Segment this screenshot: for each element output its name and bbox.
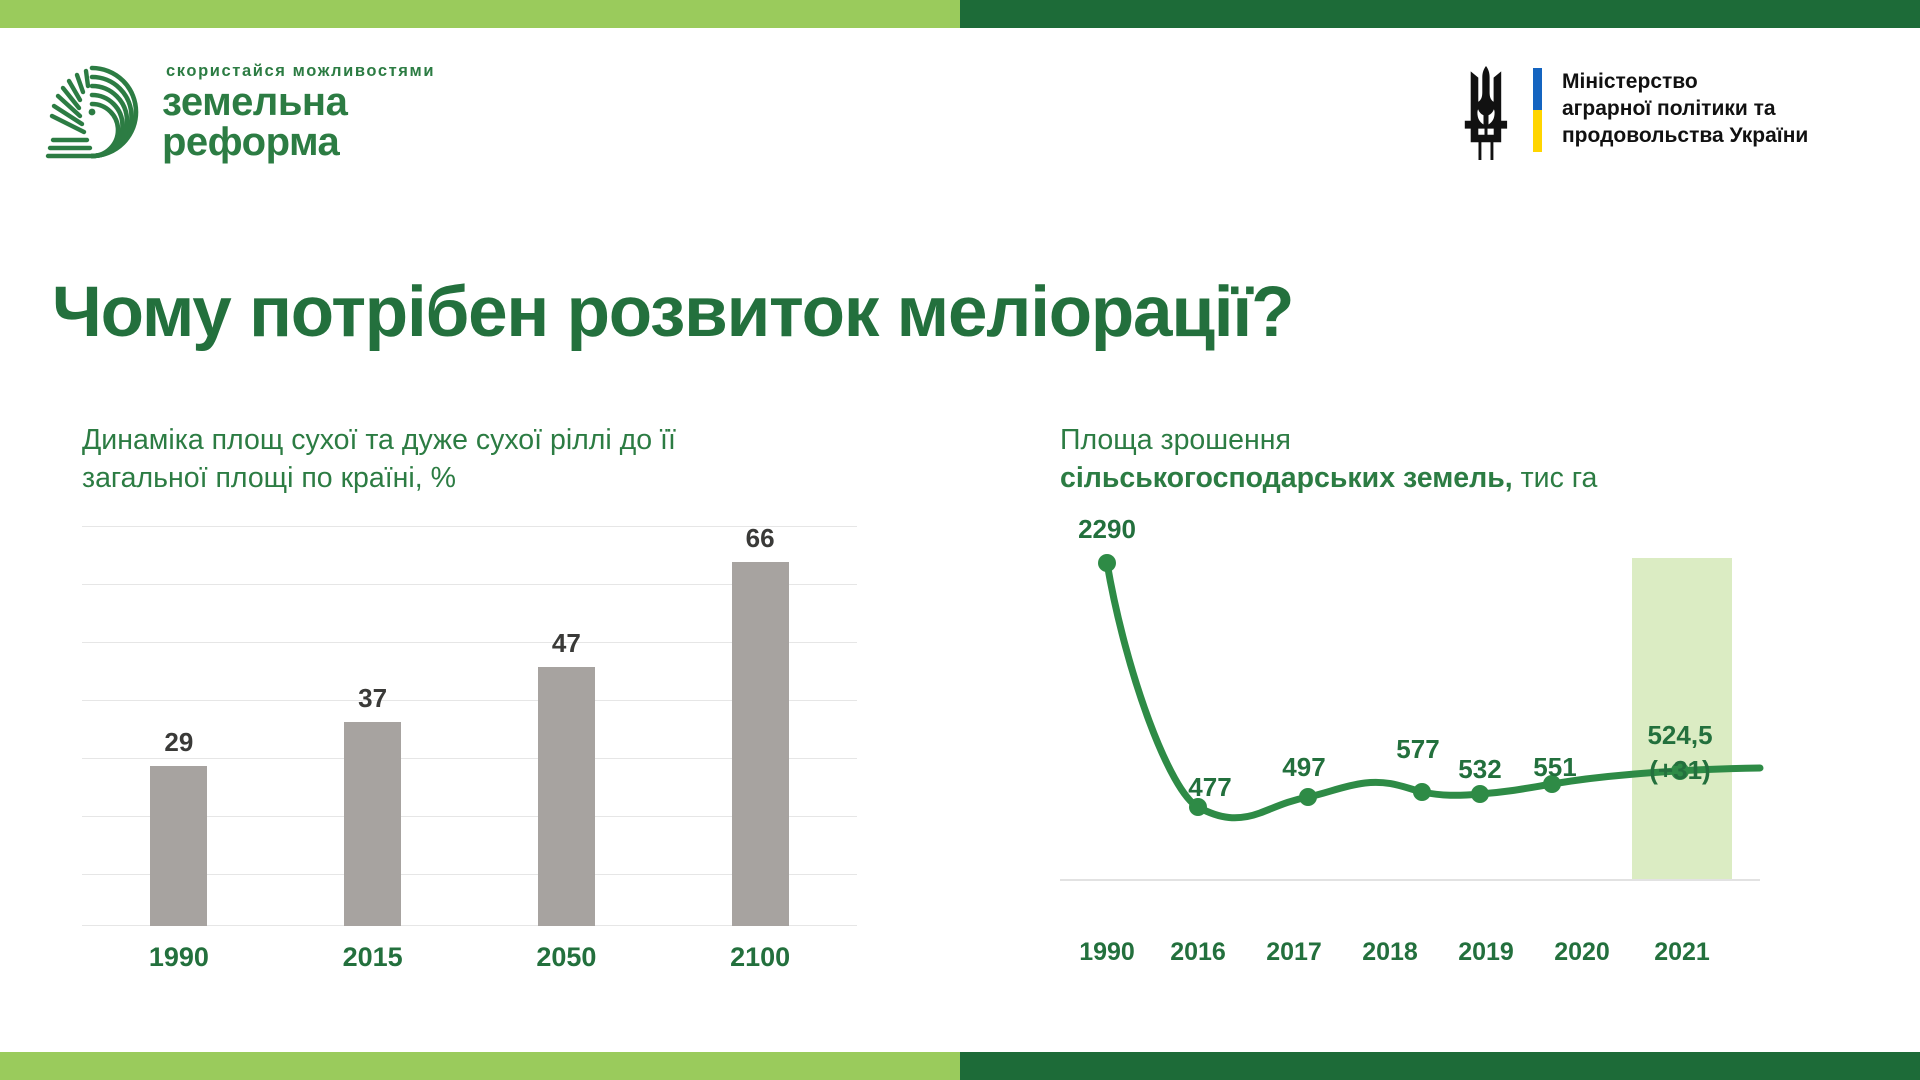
bar-value-label: 66 <box>746 523 775 554</box>
line-x-tick-2017: 2017 <box>1266 938 1322 967</box>
bar-x-tick-2050: 2050 <box>493 942 639 973</box>
dry-arable-land-bar-chart: 29 37 47 66 <box>82 526 857 926</box>
top-accent-bar-dark-segment <box>960 0 1920 28</box>
left-chart-heading-line1: Динаміка площ сухої та дуже сухої ріллі … <box>82 424 676 456</box>
line-x-tick-2016: 2016 <box>1170 938 1226 967</box>
bar-value-label: 29 <box>164 727 193 758</box>
bar-x-tick-2100: 2100 <box>687 942 833 973</box>
ministry-name-line2: аграрної політики та <box>1562 97 1776 120</box>
bar-value-label: 47 <box>552 628 581 659</box>
brand-name-line1: земельна <box>162 83 435 122</box>
line-value-label-2021: 524,5 (+31) <box>1647 720 1712 786</box>
bar-value-label: 37 <box>358 683 387 714</box>
bar-x-tick-1990: 1990 <box>106 942 252 973</box>
top-accent-bar-light-segment <box>0 0 960 28</box>
ministry-name-line3: продовольства України <box>1562 124 1808 147</box>
page-title: Чому потрібен розвиток меліорації? <box>52 272 1293 353</box>
brand-name-line2: реформа <box>162 123 435 162</box>
bar-chart-bars: 29 37 47 66 <box>82 526 857 926</box>
line-x-tick-2020: 2020 <box>1554 938 1610 967</box>
line-x-tick-2018: 2018 <box>1362 938 1418 967</box>
bottom-accent-bar-light-segment <box>0 1052 960 1080</box>
bar-column-2050[interactable]: 47 <box>493 526 639 926</box>
brand-tagline: скористайся можливостями <box>166 62 435 81</box>
ministry-logo[interactable]: Міністерство аграрної політики та продов… <box>1455 64 1808 160</box>
ministry-name-line1: Міністерство <box>1562 70 1698 93</box>
bar-rect <box>732 562 789 926</box>
right-chart-heading: Площа зрошення сільськогосподарських зем… <box>1060 422 1840 498</box>
left-chart-heading-line2: загальної площі по країні, % <box>82 462 456 494</box>
right-chart-panel: Площа зрошення сільськогосподарських зем… <box>1060 422 1840 938</box>
line-value-label-2020: 551 <box>1533 752 1576 783</box>
bottom-accent-bar-dark-segment <box>960 1052 1920 1080</box>
right-chart-heading-unit: тис га <box>1513 462 1598 494</box>
header: скористайся можливостями земельна реформ… <box>0 46 1920 176</box>
line-value-label-2021-value: 524,5 <box>1647 720 1712 750</box>
brand-logo[interactable]: скористайся можливостями земельна реформ… <box>40 60 435 164</box>
line-value-label-1990: 2290 <box>1078 514 1136 545</box>
line-value-label-2019: 532 <box>1458 754 1501 785</box>
bar-x-tick-2015: 2015 <box>300 942 446 973</box>
left-chart-panel: Динаміка площ сухої та дуже сухої ріллі … <box>82 422 872 973</box>
top-accent-bar <box>0 0 1920 28</box>
bar-rect <box>538 667 595 926</box>
left-chart-heading: Динаміка площ сухої та дуже сухої ріллі … <box>82 422 872 498</box>
line-value-label-2021-delta: (+31) <box>1647 755 1712 786</box>
bottom-accent-bar <box>0 1052 1920 1080</box>
ministry-name: Міністерство аграрної політики та продов… <box>1562 69 1808 150</box>
bar-rect <box>150 766 207 926</box>
line-value-label-2018: 577 <box>1396 734 1439 765</box>
line-x-tick-1990: 1990 <box>1079 938 1135 967</box>
bar-chart-x-axis: 1990 2015 2050 2100 <box>82 942 857 973</box>
bar-column-2015[interactable]: 37 <box>300 526 446 926</box>
line-x-tick-2019: 2019 <box>1458 938 1514 967</box>
bar-rect <box>344 722 401 926</box>
ukraine-flag-bar-icon <box>1533 68 1542 152</box>
bar-column-1990[interactable]: 29 <box>106 526 252 926</box>
irrigation-area-line-chart: 2290 477 497 577 532 551 524,5 (+31) <box>1060 524 1800 924</box>
line-chart-value-labels: 2290 477 497 577 532 551 524,5 (+31) <box>1060 524 1800 924</box>
land-reform-fan-icon <box>40 60 144 164</box>
line-value-label-2017: 497 <box>1282 752 1325 783</box>
line-x-tick-2021: 2021 <box>1654 938 1710 967</box>
line-value-label-2016: 477 <box>1188 772 1231 803</box>
right-chart-heading-bold: сільськогосподарських земель, <box>1060 462 1513 494</box>
bar-column-2100[interactable]: 66 <box>687 526 833 926</box>
ukraine-trident-icon <box>1455 64 1517 160</box>
right-chart-heading-line1: Площа зрошення <box>1060 424 1291 456</box>
